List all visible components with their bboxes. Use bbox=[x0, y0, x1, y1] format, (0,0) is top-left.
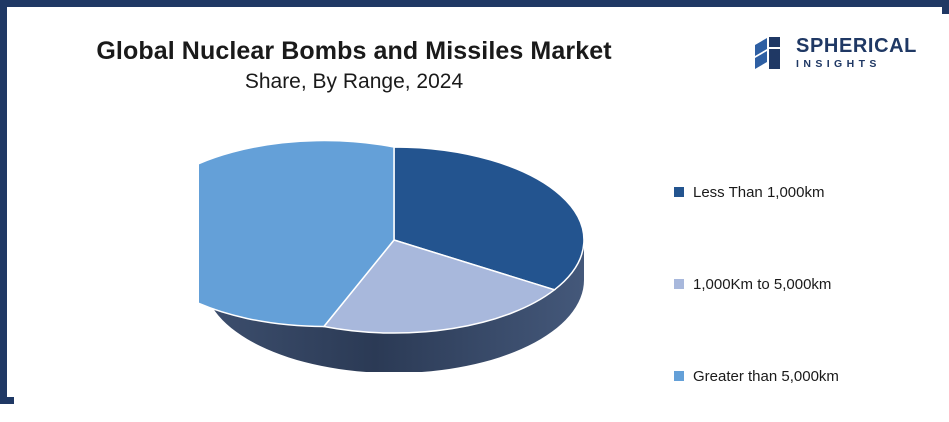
legend-swatch-icon bbox=[674, 371, 684, 381]
brand-logo: SPHERICAL INSIGHTS bbox=[755, 36, 917, 70]
legend-item-less-than-1000km[interactable]: Less Than 1,000km bbox=[674, 146, 924, 238]
legend-label: Less Than 1,000km bbox=[693, 184, 824, 201]
legend-item-greater-than-5000km[interactable]: Greater than 5,000km bbox=[674, 330, 924, 422]
legend-item-1000-to-5000km[interactable]: 1,000Km to 5,000km bbox=[674, 238, 924, 330]
pie-chart bbox=[199, 132, 589, 372]
brand-text: SPHERICAL INSIGHTS bbox=[796, 36, 917, 70]
legend-label: 1,000Km to 5,000km bbox=[693, 276, 831, 293]
chart-legend: Less Than 1,000km 1,000Km to 5,000km Gre… bbox=[674, 146, 924, 422]
brand-name: SPHERICAL bbox=[796, 36, 917, 56]
legend-swatch-icon bbox=[674, 279, 684, 289]
brand-subtitle: INSIGHTS bbox=[796, 59, 917, 70]
page-title: Global Nuclear Bombs and Missiles Market… bbox=[44, 36, 664, 96]
title-line-2: Share, By Range, 2024 bbox=[44, 68, 664, 96]
chart-frame: Global Nuclear Bombs and Missiles Market… bbox=[0, 0, 949, 404]
title-line-1: Global Nuclear Bombs and Missiles Market bbox=[44, 36, 664, 66]
legend-label: Greater than 5,000km bbox=[693, 368, 839, 385]
chart-canvas: Global Nuclear Bombs and Missiles Market… bbox=[14, 14, 949, 404]
legend-swatch-icon bbox=[674, 187, 684, 197]
spherical-logo-icon bbox=[755, 36, 789, 70]
